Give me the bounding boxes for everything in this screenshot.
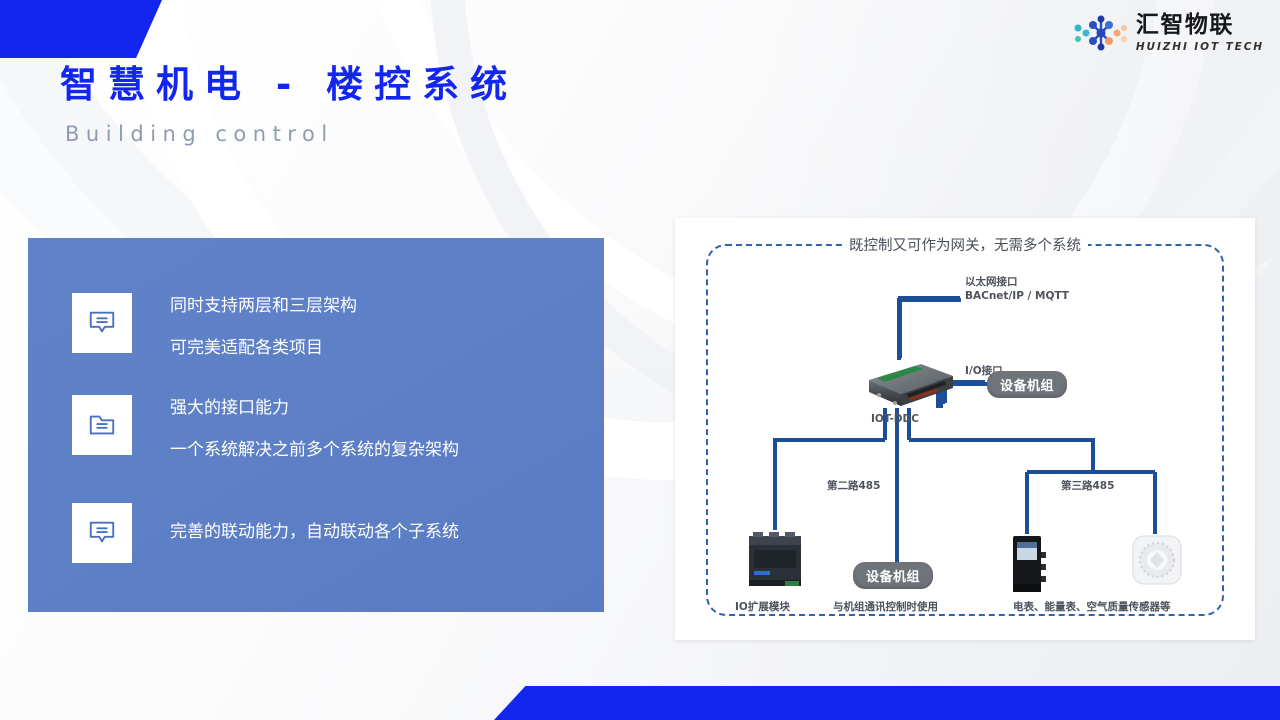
energy-meter-image — [1007, 534, 1049, 594]
brand-logo: 汇智物联 HUIZHI IOT TECH — [1073, 13, 1264, 53]
feature-2-lines: 强大的接口能力 一个系统解决之前多个系统的复杂架构 — [170, 395, 459, 462]
iot-ddc-device-image — [863, 358, 955, 410]
huizhi-molecule-logo-icon — [1073, 13, 1129, 53]
slide-root: 智慧机电 - 楼控系统 Building control — [0, 0, 1280, 720]
logo-name-cn: 汇智物联 — [1136, 13, 1234, 37]
feature-2-line-1: 强大的接口能力 — [170, 397, 459, 420]
air-quality-sensor-image — [1131, 534, 1183, 590]
device-unit-pill-top: 设备机组 — [987, 371, 1067, 398]
corner-accent-bottom-right — [494, 686, 1280, 720]
io-expansion-module-caption: IO扩展模块 — [735, 600, 790, 614]
bus2-label: 第二路485 — [827, 479, 880, 493]
feature-1-lines: 同时支持两层和三层架构 可完美适配各类项目 — [170, 293, 357, 360]
comment-bubble-icon — [72, 503, 132, 563]
feature-3-lines: 完善的联动能力，自动联动各个子系统 — [170, 503, 459, 544]
feature-2-line-2: 一个系统解决之前多个系统的复杂架构 — [170, 439, 459, 462]
feature-1-line-2: 可完美适配各类项目 — [170, 337, 357, 360]
features-panel: 同时支持两层和三层架构 可完美适配各类项目 强大的接口能力 一个系统解决之前多个… — [28, 238, 604, 612]
ethernet-port-label: 以太网接口 BACnet/IP / MQTT — [965, 275, 1069, 303]
folder-document-icon — [72, 395, 132, 455]
io-expansion-module-image — [745, 530, 805, 592]
meters-sensors-caption: 电表、能量表、空气质量传感器等 — [1013, 600, 1171, 614]
unit-comm-caption: 与机组通讯控制时使用 — [833, 600, 938, 614]
feature-item-2: 强大的接口能力 一个系统解决之前多个系统的复杂架构 — [72, 395, 459, 462]
corner-accent-top-left — [0, 0, 162, 58]
ethernet-port-line-1: 以太网接口 — [965, 276, 1018, 288]
feature-item-3: 完善的联动能力，自动联动各个子系统 — [72, 503, 459, 563]
logo-name-en: HUIZHI IOT TECH — [1136, 41, 1264, 53]
ethernet-port-line-2: BACnet/IP / MQTT — [965, 290, 1069, 302]
logo-wordmark: 汇智物联 HUIZHI IOT TECH — [1136, 13, 1264, 52]
feature-1-line-1: 同时支持两层和三层架构 — [170, 295, 357, 318]
comment-bubble-icon — [72, 293, 132, 353]
page-subtitle: Building control — [65, 122, 518, 146]
feature-3-line-1: 完善的联动能力，自动联动各个子系统 — [170, 521, 459, 544]
page-header: 智慧机电 - 楼控系统 Building control — [60, 62, 518, 146]
feature-item-1: 同时支持两层和三层架构 可完美适配各类项目 — [72, 293, 357, 360]
page-title: 智慧机电 - 楼控系统 — [60, 62, 518, 108]
iot-ddc-label: IOT-DDC — [871, 412, 919, 426]
architecture-diagram-card: 既控制又可作为网关，无需多个系统 — [675, 218, 1255, 640]
device-unit-pill-mid: 设备机组 — [853, 562, 933, 589]
bus3-label: 第三路485 — [1061, 479, 1114, 493]
